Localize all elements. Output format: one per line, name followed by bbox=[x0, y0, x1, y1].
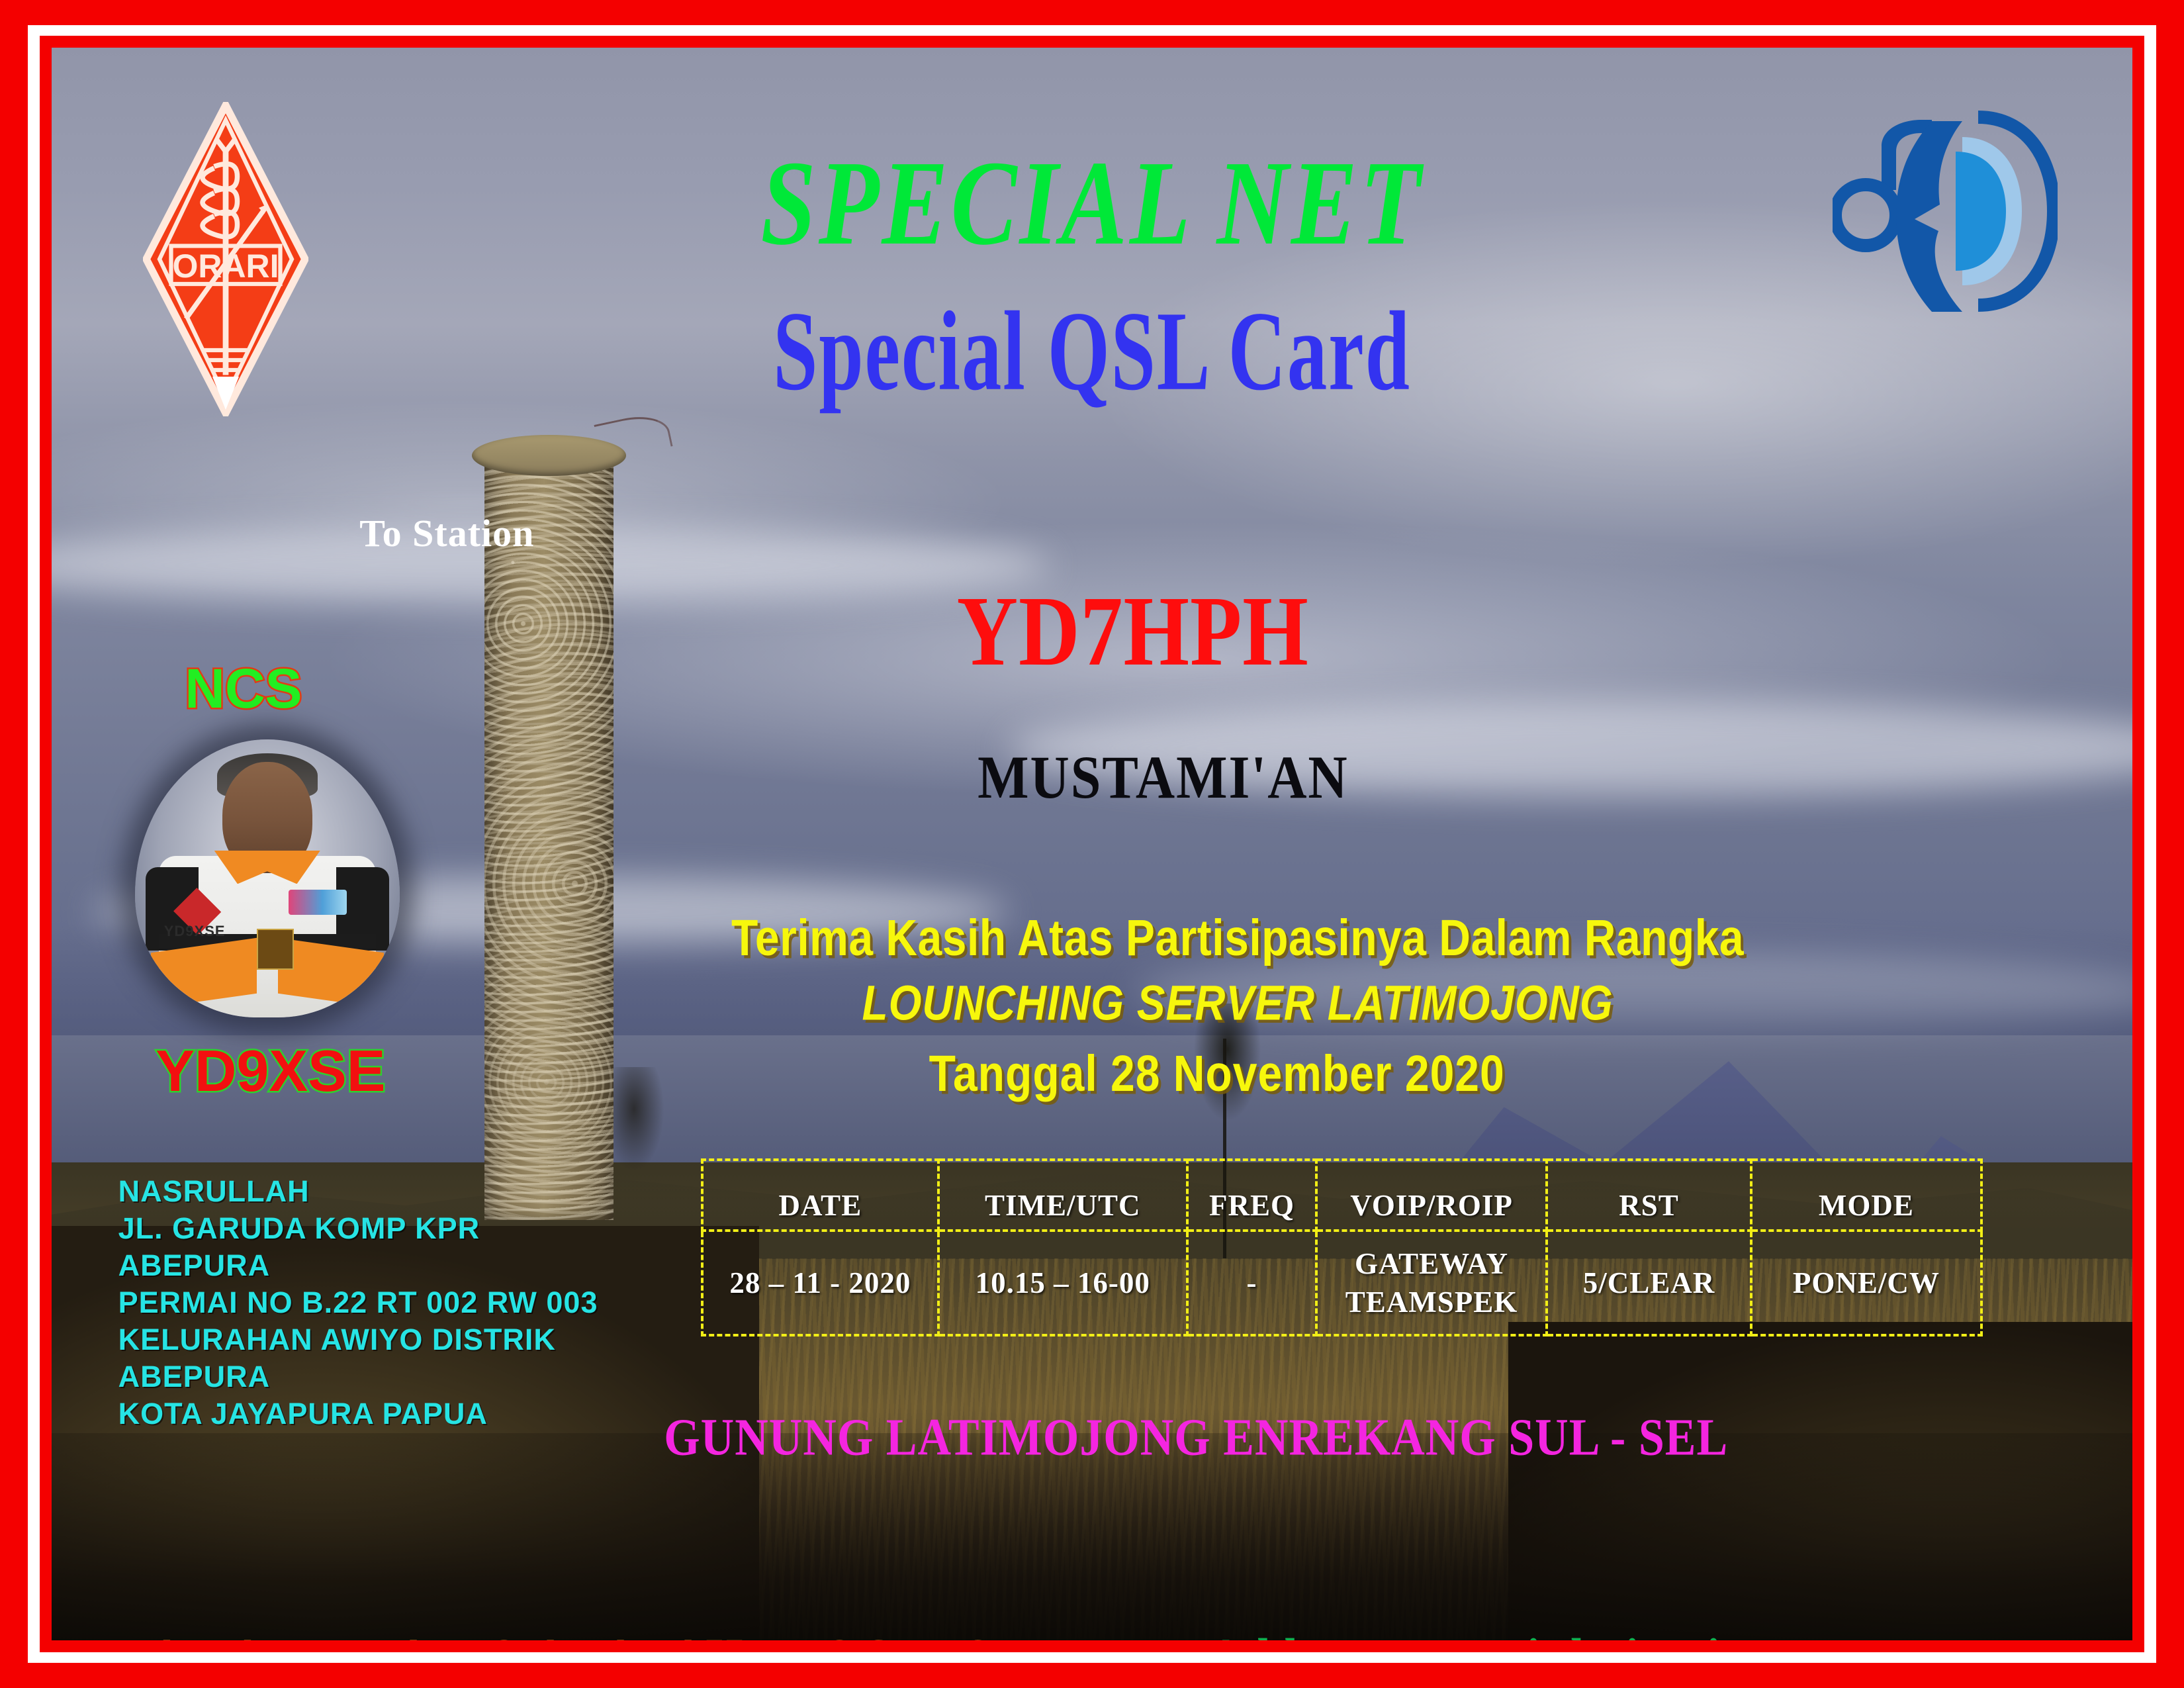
frame-inner-red: ORARI SPECIAL NET Special QSL Card bbox=[40, 36, 2144, 1652]
ncs-label: NCS bbox=[185, 657, 302, 721]
background-photograph: ORARI SPECIAL NET Special QSL Card bbox=[52, 48, 2132, 1640]
table-header-row: DATE TIME/UTC FREQ VOIP/ROIP RST MODE bbox=[702, 1160, 1981, 1231]
thanks-line-2: LOUNCHING SERVER LATIMOJONG bbox=[52, 974, 2132, 1031]
cell-mode: PONE/CW bbox=[1751, 1231, 1981, 1335]
qsl-card: ORARI SPECIAL NET Special QSL Card bbox=[0, 0, 2184, 1688]
cell-rst: 5/CLEAR bbox=[1547, 1231, 1751, 1335]
web-address-text: Address : amatir.latimojong.com bbox=[1208, 1626, 1896, 1640]
station-callsign: YD7HPH bbox=[957, 574, 1309, 688]
cell-date: 28 – 11 - 2020 bbox=[702, 1231, 938, 1335]
table-row: 28 – 11 - 2020 10.15 – 16-00 - GATEWAY T… bbox=[702, 1231, 1981, 1335]
address-line: PERMAI NO B.22 RT 002 RW 003 bbox=[118, 1284, 598, 1321]
cell-voip-line2: TEAMSPEK bbox=[1345, 1286, 1518, 1319]
header-mode: MODE bbox=[1751, 1160, 1981, 1231]
cell-voip-line1: GATEWAY bbox=[1355, 1247, 1508, 1280]
address-block: NASRULLAH JL. GARUDA KOMP KPR ABEPURA PE… bbox=[118, 1173, 598, 1432]
address-line: NASRULLAH bbox=[118, 1173, 598, 1210]
frame-white-gap: ORARI SPECIAL NET Special QSL Card bbox=[28, 25, 2156, 1663]
address-line: KELURAHAN AWIYO DISTRIK bbox=[118, 1321, 598, 1358]
location-text: GUNUNG LATIMOJONG ENREKANG SUL - SEL bbox=[52, 1408, 2132, 1468]
header-rst: RST bbox=[1547, 1160, 1751, 1231]
address-line: JL. GARUDA KOMP KPR bbox=[118, 1210, 598, 1247]
to-station-label: To Station bbox=[359, 511, 534, 555]
cell-voip: GATEWAY TEAMSPEK bbox=[1316, 1231, 1546, 1335]
cell-freq: - bbox=[1187, 1231, 1317, 1335]
address-line: ABEPURA bbox=[118, 1247, 598, 1284]
header-date: DATE bbox=[702, 1160, 938, 1231]
header-voip: VOIP/ROIP bbox=[1316, 1160, 1546, 1231]
address-line: ABEPURA bbox=[118, 1358, 598, 1395]
thanks-line-3: Tanggal 28 November 2020 bbox=[52, 1044, 2132, 1102]
thanks-line-1: Terima Kasih Atas Partisipasinya Dalam R… bbox=[52, 908, 2132, 966]
header-freq: FREQ bbox=[1187, 1160, 1317, 1231]
stone-pillar-monument bbox=[484, 455, 614, 1220]
motto-text: "AMATIR RADIO ADALAH PROGRESIVE" bbox=[122, 1626, 1105, 1640]
page-subtitle: Special QSL Card bbox=[124, 286, 2060, 417]
qso-table: DATE TIME/UTC FREQ VOIP/ROIP RST MODE 28… bbox=[701, 1158, 1983, 1336]
header-time: TIME/UTC bbox=[938, 1160, 1187, 1231]
operator-name: MUSTAMI'AN bbox=[978, 743, 1349, 812]
page-title: SPECIAL NET bbox=[52, 134, 2132, 273]
cell-time: 10.15 – 16-00 bbox=[938, 1231, 1187, 1335]
